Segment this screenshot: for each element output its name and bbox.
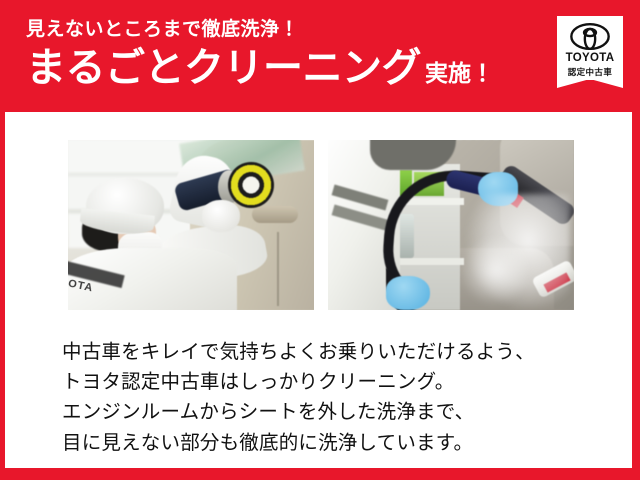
headline: まるごとクリーニング <box>26 47 421 89</box>
photo-polishing: OTA <box>68 140 314 310</box>
photo-row: OTA <box>68 140 578 310</box>
car-door-handle <box>252 206 298 223</box>
worker-glove <box>202 200 240 232</box>
body-copy: 中古車をキレイで気持ちよくお乗りいただけるよう、 トヨタ認定中古車はしっかりクリ… <box>62 337 582 458</box>
badge-certification-label: 認定中古車 <box>568 68 613 77</box>
banner-header: 見えないところまで徹底洗浄！ まるごとクリーニング 実施！ TOYOTA 認定中… <box>0 0 640 112</box>
badge-notch <box>557 79 623 88</box>
banner-body-card: OTA <box>5 112 632 468</box>
car-panel-seam <box>277 232 279 306</box>
headline-row: まるごとクリーニング 実施！ <box>26 47 494 89</box>
cleaning-promo-banner: 見えないところまで徹底洗浄！ まるごとクリーニング 実施！ TOYOTA 認定中… <box>0 0 640 480</box>
worker-glove-left <box>386 276 430 310</box>
subheadline: 見えないところまで徹底洗浄！ <box>26 20 494 41</box>
body-copy-line-1: 中古車をキレイで気持ちよくお乗りいただけるよう、 <box>62 337 582 367</box>
toyota-emblem-icon <box>570 23 610 50</box>
body-copy-line-2: トヨタ認定中古車はしっかりクリーニング。 <box>62 367 582 397</box>
body-copy-line-3: エンジンルームからシートを外した洗浄まで、 <box>62 397 582 427</box>
steam-cloud-secondary <box>460 236 530 306</box>
photo-steam-cleaning <box>328 140 574 310</box>
polisher-pad <box>228 162 274 208</box>
headline-suffix: 実施！ <box>425 54 494 88</box>
toyota-certified-badge: TOYOTA 認定中古車 <box>557 16 623 96</box>
badge-wordmark: TOYOTA <box>566 53 615 65</box>
body-copy-line-4: 目に見えない部分も徹底的に洗浄しています。 <box>62 428 582 458</box>
header-text-block: 見えないところまで徹底洗浄！ まるごとクリーニング 実施！ <box>26 20 494 89</box>
